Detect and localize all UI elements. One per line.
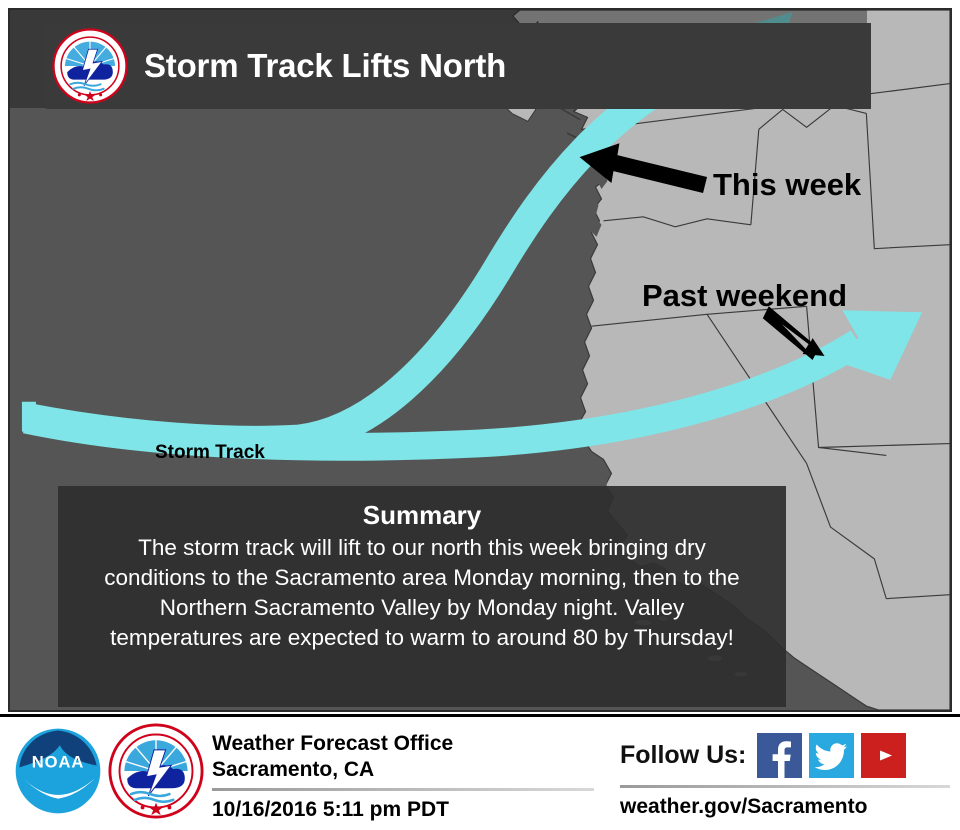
summary-line-3: Northern Sacramento Valley by Monday nig…	[72, 593, 772, 623]
divider	[212, 788, 594, 791]
summary-line-4: temperatures are expected to warm to aro…	[72, 623, 772, 653]
office-name: Weather Forecast Office	[212, 731, 602, 757]
office-location: Sacramento, CA	[212, 757, 602, 783]
map-panel: Storm Track Lifts North This week Past w…	[8, 8, 952, 712]
summary-box: Summary The storm track will lift to our…	[58, 486, 786, 707]
nws-logo-icon	[52, 28, 128, 104]
facebook-icon[interactable]	[757, 733, 802, 778]
title-bar: Storm Track Lifts North	[46, 23, 871, 109]
page-title: Storm Track Lifts North	[144, 47, 506, 85]
svg-text:NOAA: NOAA	[32, 752, 84, 771]
footer: NOAA	[0, 714, 960, 830]
youtube-icon[interactable]	[861, 733, 906, 778]
follow-block: Follow Us: weather.gov/Sacramento	[620, 733, 950, 819]
annotation-storm-track: Storm Track	[155, 442, 265, 464]
nws-logo-icon	[108, 723, 204, 819]
office-block: Weather Forecast Office Sacramento, CA 1…	[212, 731, 602, 822]
website-url: weather.gov/Sacramento	[620, 795, 950, 819]
summary-line-1: The storm track will lift to our north t…	[72, 533, 772, 563]
summary-line-2: conditions to the Sacramento area Monday…	[72, 563, 772, 593]
noaa-logo-icon: NOAA	[12, 725, 104, 817]
annotation-this-week: This week	[713, 167, 861, 203]
weather-graphic: Storm Track Lifts North This week Past w…	[0, 0, 960, 827]
divider	[620, 785, 950, 788]
summary-title: Summary	[72, 500, 772, 531]
annotation-past-weekend: Past weekend	[642, 278, 847, 314]
timestamp: 10/16/2016 5:11 pm PDT	[212, 798, 602, 822]
twitter-icon[interactable]	[809, 733, 854, 778]
follow-us-label: Follow Us:	[620, 741, 746, 770]
